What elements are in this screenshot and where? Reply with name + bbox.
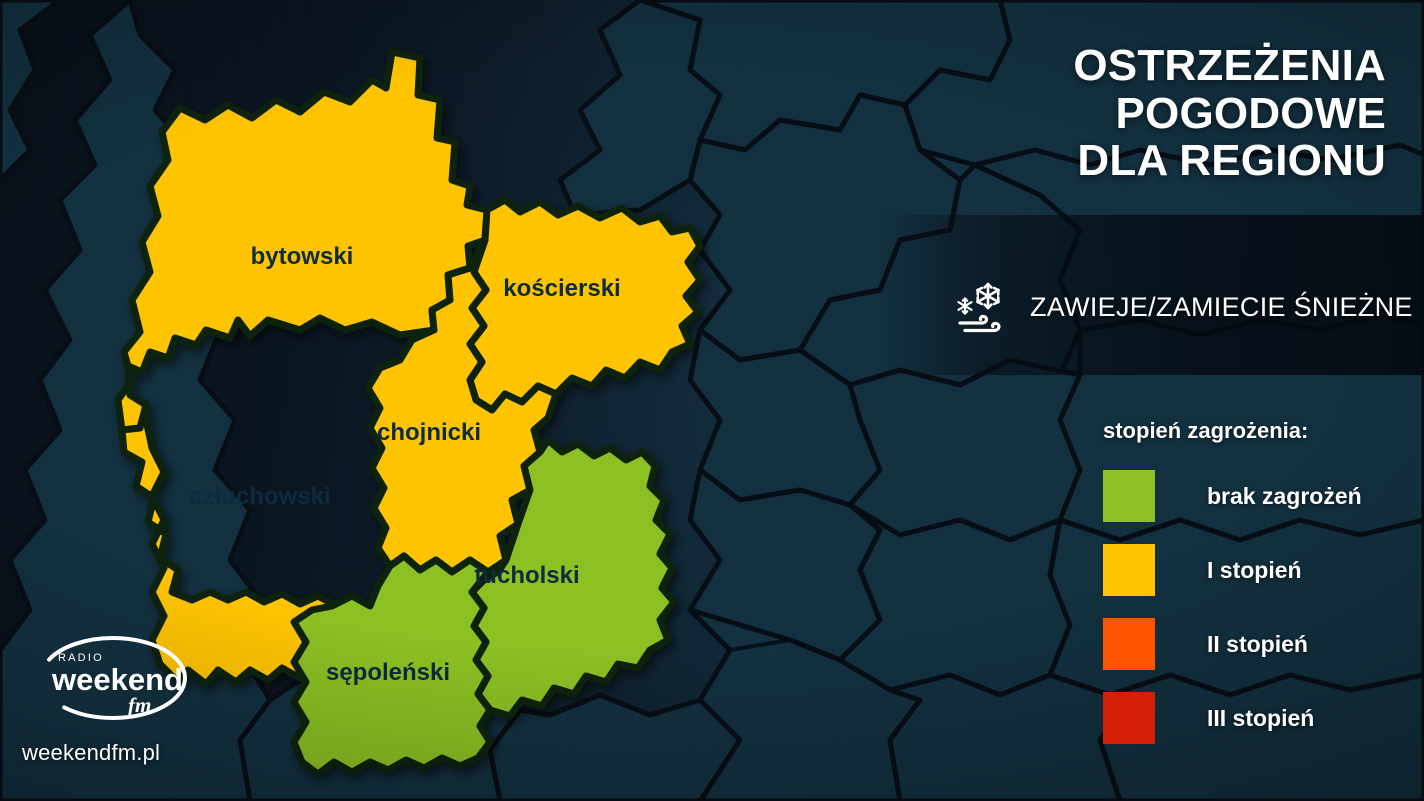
legend-swatch-green	[1103, 470, 1155, 522]
warning-type-label: ZAWIEJE/ZAMIECIE ŚNIEŻNE	[1030, 292, 1413, 323]
title-line-2: POGODOWE	[866, 90, 1386, 138]
legend-swatch-yellow	[1103, 544, 1155, 596]
logo-fm-word: fm	[128, 693, 151, 717]
warning-type-row: ZAWIEJE/ZAMIECIE ŚNIEŻNE	[952, 278, 1413, 336]
legend-label-iii-stopien: III stopień	[1207, 705, 1314, 732]
radio-weekend-fm-logo[interactable]: RADIO weekend fm	[18, 628, 208, 728]
title-line-3: DLA REGIONU	[866, 137, 1386, 185]
legend-label-brak-zagrozen: brak zagrożeń	[1207, 483, 1362, 510]
weather-warning-graphic: bytowski kościerski chojnicki człuchowsk…	[0, 0, 1424, 801]
logo-weekend-word: weekend	[51, 662, 183, 697]
legend-label-ii-stopien: II stopień	[1207, 631, 1308, 658]
legend-item-brak-zagrozen: brak zagrożeń	[1103, 470, 1403, 522]
legend-title: stopień zagrożenia:	[1103, 418, 1403, 444]
legend-label-i-stopien: I stopień	[1207, 557, 1302, 584]
legend-item-i-stopien: I stopień	[1103, 544, 1403, 596]
legend-swatch-orange	[1103, 618, 1155, 670]
page-title: OSTRZEŻENIA POGODOWE DLA REGIONU	[866, 42, 1386, 185]
legend-item-ii-stopien: II stopień	[1103, 618, 1403, 670]
legend-swatch-red	[1103, 692, 1155, 744]
website-url: weekendfm.pl	[22, 740, 160, 766]
legend: stopień zagrożenia: brak zagrożeń I stop…	[1103, 418, 1403, 766]
snow-blizzard-icon	[952, 278, 1012, 336]
legend-item-iii-stopien: III stopień	[1103, 692, 1403, 744]
title-line-1: OSTRZEŻENIA	[866, 42, 1386, 90]
